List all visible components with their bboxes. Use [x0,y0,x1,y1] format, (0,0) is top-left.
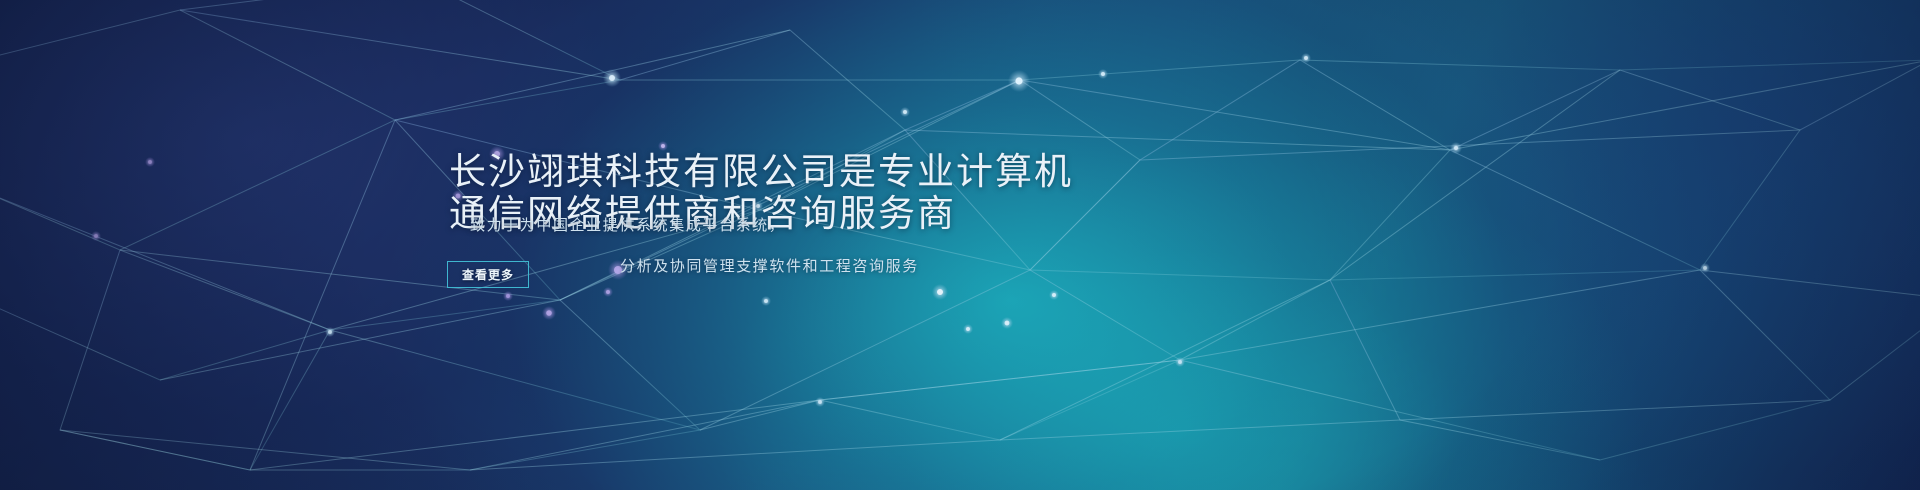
hero-headline-line-1: 长沙翊琪科技有限公司是专业计算机 [449,151,1073,193]
hero-subtext-line-1: 致力于为中国企业提供系统集成平台系统， [470,215,785,237]
view-more-button[interactable]: 查看更多 [447,261,529,288]
hero-subtext-line-2: 分析及协同管理支撑软件和工程咨询服务 [620,256,919,278]
hero-content: 长沙翊琪科技有限公司是专业计算机 通信网络提供商和咨询服务商 致力于为中国企业提… [0,0,1920,490]
hero-banner: 长沙翊琪科技有限公司是专业计算机 通信网络提供商和咨询服务商 致力于为中国企业提… [0,0,1920,490]
